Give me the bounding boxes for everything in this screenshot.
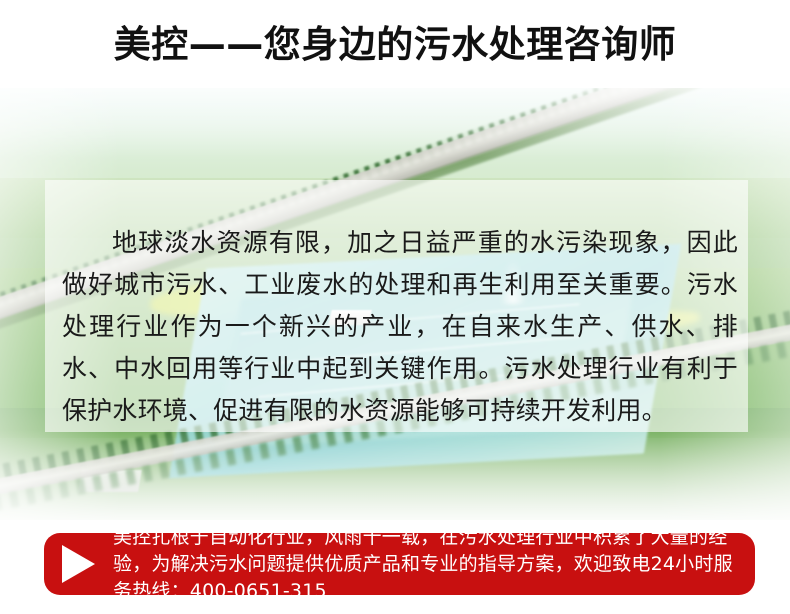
photo-haze-bottom bbox=[0, 430, 790, 520]
hotline-banner-text: 美控扎根于自动化行业，风雨十一载，在污水处理行业中积累了大量的经验，为解决污水问… bbox=[113, 524, 741, 605]
play-triangle-icon bbox=[62, 545, 95, 583]
page-title: 美控——您身边的污水处理咨询师 bbox=[114, 26, 677, 63]
slide-page: 美控——您身边的污水处理咨询师 地球淡水资源有限，加之日益严重的水污染现象，因此… bbox=[0, 0, 790, 614]
hotline-banner[interactable]: 美控扎根于自动化行业，风雨十一载，在污水处理行业中积累了大量的经验，为解决污水问… bbox=[44, 533, 755, 595]
overlay-paragraph: 地球淡水资源有限，加之日益严重的水污染现象，因此做好城市污水、工业废水的处理和再… bbox=[62, 222, 738, 432]
title-bar: 美控——您身边的污水处理咨询师 bbox=[0, 0, 790, 88]
